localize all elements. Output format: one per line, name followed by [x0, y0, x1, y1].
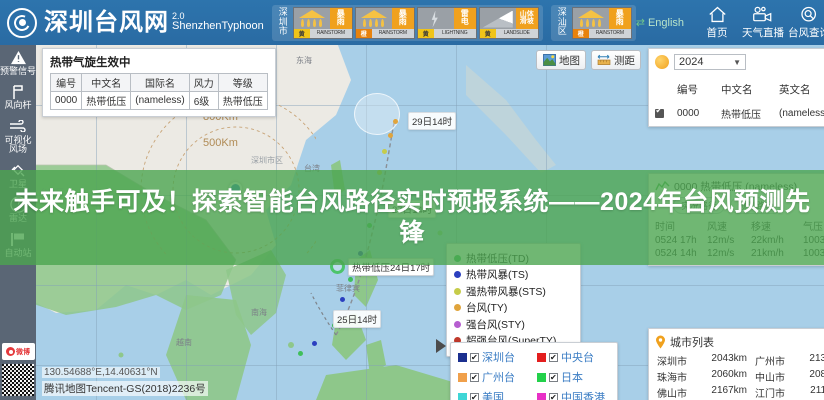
cell-wind: 6级 [189, 92, 218, 110]
cell-name-cn: 热带低压 [721, 106, 779, 121]
agency-item-central[interactable]: 中央台 [537, 349, 610, 365]
city-list-grid: 深圳市 2043km 广州市 2138km 珠海市 2060km 中山市 208… [655, 352, 824, 400]
sidebar-item-label: 可视化 风场 [4, 136, 31, 155]
agency-checkbox[interactable] [470, 393, 479, 400]
warning-level: 黄 [294, 29, 310, 38]
agency-color-swatch [458, 353, 467, 362]
warning-english: LANDSLIDE [496, 29, 538, 38]
legend-color-swatch [454, 304, 461, 311]
agency-checkbox[interactable] [549, 353, 558, 362]
video-camera-icon [752, 5, 774, 24]
brand-english: ShenzhenTyphoon [172, 21, 264, 33]
triangle-right-icon[interactable] [436, 339, 446, 353]
agency-color-swatch [458, 393, 467, 400]
cell-grade: 热带低压 [218, 92, 267, 110]
nav-label: 台风查询 [788, 25, 824, 40]
city-row[interactable]: 佛山市 2167km [655, 384, 749, 400]
warning-english: RAINSTORM [372, 29, 414, 38]
forecast-cone [354, 93, 400, 135]
map-pin-icon [655, 335, 666, 349]
track-time-tag: 29日14时 [408, 112, 456, 130]
agency-item-shenzhen[interactable]: 深圳台 [458, 349, 531, 365]
agency-color-swatch [537, 353, 546, 362]
agency-item-hongkong[interactable]: 中国香港 [537, 389, 610, 400]
legend-item[interactable]: 台风(TY) [454, 300, 573, 315]
warning-region-label: 深汕区 [556, 8, 569, 36]
nav-item-weather-live[interactable]: 天气直播 [740, 5, 786, 40]
year-select[interactable]: 2024 ▼ [674, 54, 746, 70]
agency-label: 日本 [561, 369, 583, 385]
warning-level: 黄 [480, 29, 496, 38]
warning-english: RAINSTORM [589, 29, 631, 38]
ruler-icon [597, 54, 611, 67]
qr-code-icon [2, 364, 34, 396]
language-label: English [648, 17, 684, 29]
city-distance: 2060km [711, 369, 747, 384]
year-value: 2024 [679, 56, 703, 68]
track-point[interactable] [348, 277, 353, 282]
city-name: 中山市 [755, 369, 785, 384]
warning-char-1: 山体 [520, 11, 534, 18]
column-header: 等级 [218, 74, 267, 92]
legend-label: 台风(TY) [466, 300, 507, 315]
sidebar-item-warning-signal[interactable]: 预警信号 [0, 45, 36, 79]
weibo-icon[interactable]: 微博 [2, 343, 35, 360]
agency-label: 中央台 [561, 349, 594, 365]
nav-label: 天气直播 [742, 25, 784, 40]
track-point[interactable] [340, 297, 345, 302]
brand-title: 深圳台风网 [44, 11, 169, 35]
promo-headline: 未来触手可及！探索智能台风路径实时预报系统——2024年台风预测先锋 [0, 187, 824, 248]
agency-checkbox[interactable] [470, 373, 479, 382]
warning-level: 橙 [573, 29, 589, 38]
agency-label: 广州台 [482, 369, 515, 385]
track-point[interactable] [393, 119, 398, 124]
city-name: 佛山市 [657, 385, 687, 400]
agency-color-swatch [537, 373, 546, 382]
active-cyclone-title: 热带气旋生效中 [50, 54, 268, 70]
agency-checkbox[interactable] [470, 353, 479, 362]
map-credit: 腾讯地图Tencent-GS(2018)2236号 [42, 381, 208, 396]
legend-item[interactable]: 热带风暴(TS) [454, 267, 573, 282]
typhoon-spiral-logo [7, 8, 37, 38]
warning-group-shenshan: 深汕区 暴 雨 橙 RAINSTORM [551, 5, 636, 41]
rainstorm-icon [356, 8, 392, 29]
agency-item-guangzhou[interactable]: 广州台 [458, 369, 531, 385]
agency-legend-panel: 深圳台 中央台 广州台 日本 美国 [450, 342, 618, 400]
year-selector-row: 2024 ▼ [655, 54, 824, 70]
warning-level: 橙 [356, 29, 372, 38]
legend-color-swatch [454, 288, 461, 295]
track-point[interactable] [388, 133, 393, 138]
agency-color-swatch [458, 373, 467, 382]
legend-label: 热带风暴(TS) [466, 267, 528, 282]
legend-label: 强台风(STY) [466, 317, 525, 332]
brand-subtitle: 2.0 ShenzhenTyphoon [172, 12, 264, 33]
legend-color-swatch [454, 321, 461, 328]
home-icon [708, 5, 727, 24]
typhoon-tracking-app: 深圳台风网 2.0 ShenzhenTyphoon 深圳市 暴 雨 黄 [0, 0, 824, 400]
typhoon-list-row[interactable]: 0000 热带低压 (nameless) 05 [655, 105, 824, 122]
typhoon-list-panel: 2024 ▼ 编号 中文名 英文名 月份 0000 热带低压 (nameless… [648, 48, 824, 127]
typhoon-row-checkbox[interactable] [655, 109, 664, 118]
warning-card-rainstorm-orange-shenshan[interactable]: 暴 雨 橙 RAINSTORM [572, 7, 632, 39]
sidebar-item-wind-field[interactable]: 可视化 风场 [0, 114, 36, 158]
warning-english: LIGHTNING [434, 29, 476, 38]
warning-char-2: 电 [461, 18, 469, 26]
track-point[interactable] [298, 351, 303, 356]
city-name: 广州市 [755, 353, 785, 368]
agency-label: 深圳台 [482, 349, 515, 365]
header-nav: 首页 天气直播 [694, 5, 824, 40]
city-list-title: 城市列表 [670, 334, 714, 350]
column-header: 编号 [51, 74, 82, 92]
column-header: 英文名 [779, 82, 824, 97]
cell-name-intl: (nameless) [131, 92, 189, 110]
city-distance: 2167km [711, 385, 747, 400]
column-header: 编号 [677, 82, 721, 97]
warning-group-shenzhen: 深圳市 暴 雨 黄 RAINSTORM [272, 5, 543, 41]
typhoon-eye-icon [655, 55, 669, 69]
warning-char-2: 雨 [399, 18, 407, 26]
warning-char-2: 雨 [337, 18, 345, 26]
track-point[interactable] [382, 149, 387, 154]
rainstorm-icon [294, 8, 330, 29]
sidebar-item-label: 风向杆 [4, 101, 31, 110]
city-list-header: 城市列表 [655, 334, 824, 350]
track-point[interactable] [312, 341, 317, 346]
language-switch[interactable]: ⇄ English [636, 16, 684, 29]
cell-number: 0000 [51, 92, 82, 110]
table-row: 0000 热带低压 (nameless) 6级 热带低压 [51, 92, 268, 110]
wind-vane-icon [10, 83, 26, 100]
agency-label: 中国香港 [561, 389, 605, 400]
rainstorm-icon [573, 8, 609, 29]
agency-color-swatch [537, 393, 546, 400]
agency-checkbox[interactable] [549, 393, 558, 400]
weibo-label: 微博 [16, 347, 30, 357]
warning-card-lightning-yellow[interactable]: 雷 电 黄 LIGHTNING [417, 7, 477, 39]
warning-region-label: 深圳市 [277, 8, 290, 36]
city-distance: 2138km [809, 353, 824, 368]
legend-item[interactable]: 强台风(STY) [454, 317, 573, 332]
agency-item-usa[interactable]: 美国 [458, 389, 531, 400]
promo-overlay-band: 未来触手可及！探索智能台风路径实时预报系统——2024年台风预测先锋 [0, 170, 824, 265]
warning-card-landslide-yellow[interactable]: 山体 滑坡 黄 LANDSLIDE [479, 7, 539, 39]
chevron-down-icon: ▼ [733, 58, 741, 67]
app-header: 深圳台风网 2.0 ShenzhenTyphoon 深圳市 暴 雨 黄 [0, 0, 824, 45]
city-row[interactable]: 深圳市 2043km [655, 352, 749, 368]
city-row[interactable]: 江门市 2119km [753, 384, 824, 400]
search-circle-icon [800, 5, 819, 24]
legend-color-swatch [454, 271, 461, 278]
nav-label: 首页 [707, 25, 728, 40]
measure-distance-label: 测距 [614, 53, 635, 68]
map-toolbar: 地图 测距 [536, 50, 641, 70]
warning-card-rainstorm-orange[interactable]: 暴 雨 橙 RAINSTORM [355, 7, 415, 39]
warning-triangle-icon [10, 49, 27, 66]
city-row[interactable]: 广州市 2138km [753, 352, 824, 368]
city-name: 江门市 [755, 385, 785, 400]
table-header-row: 编号 中文名 国际名 风力 等级 [51, 74, 268, 92]
map-layer-button[interactable]: 地图 [536, 50, 586, 70]
track-time-tag: 25日14时 [333, 310, 381, 328]
active-cyclone-table: 编号 中文名 国际名 风力 等级 0000 热带低压 (nameless) 6级… [50, 73, 268, 110]
sidebar-item-label: 预警信号 [0, 67, 36, 76]
lightning-icon [418, 8, 454, 29]
nav-item-home[interactable]: 首页 [694, 5, 740, 40]
map-coordinates: 130.54688°E,14.40631°N [42, 367, 160, 378]
agency-item-japan[interactable]: 日本 [537, 369, 610, 385]
nav-item-typhoon-query[interactable]: 台风查询 [786, 5, 824, 40]
map-layer-label: 地图 [559, 53, 580, 68]
column-header: 中文名 [82, 74, 131, 92]
legend-item[interactable]: 强热带风暴(STS) [454, 284, 573, 299]
city-list-panel: 城市列表 深圳市 2043km 广州市 2138km 珠海市 2060km 中山… [648, 328, 824, 400]
warning-char-2: 滑坡 [520, 18, 534, 25]
translate-icon: ⇄ [636, 16, 645, 29]
cell-name-cn: 热带低压 [82, 92, 131, 110]
warning-card-rainstorm-yellow[interactable]: 暴 雨 黄 RAINSTORM [293, 7, 353, 39]
cell-number: 0000 [677, 108, 721, 119]
warning-level: 黄 [418, 29, 434, 38]
warning-char-2: 雨 [616, 18, 624, 26]
sidebar-item-wind-vane[interactable]: 风向杆 [0, 79, 36, 113]
agency-checkbox[interactable] [549, 373, 558, 382]
city-distance: 2119km [810, 385, 824, 400]
city-row[interactable]: 中山市 2089km [753, 368, 824, 384]
map-layer-icon [542, 54, 556, 67]
agency-label: 美国 [482, 389, 504, 400]
column-header: 国际名 [131, 74, 189, 92]
legend-label: 强热带风暴(STS) [466, 284, 546, 299]
city-distance: 2043km [711, 353, 747, 368]
cell-name-en: (nameless) [779, 108, 824, 119]
landslide-icon [480, 8, 516, 29]
measure-distance-button[interactable]: 测距 [591, 50, 641, 70]
column-header: 中文名 [721, 82, 779, 97]
column-header: 风力 [189, 74, 218, 92]
city-name: 珠海市 [657, 369, 687, 384]
city-distance: 2089km [809, 369, 824, 384]
typhoon-list-header: 编号 中文名 英文名 月份 [655, 73, 824, 105]
active-cyclone-panel: 热带气旋生效中 编号 中文名 国际名 风力 等级 0000 热带低压 (name… [42, 48, 276, 117]
city-name: 深圳市 [657, 353, 687, 368]
city-row[interactable]: 珠海市 2060km [655, 368, 749, 384]
wind-flow-icon [9, 118, 27, 135]
warning-english: RAINSTORM [310, 29, 352, 38]
